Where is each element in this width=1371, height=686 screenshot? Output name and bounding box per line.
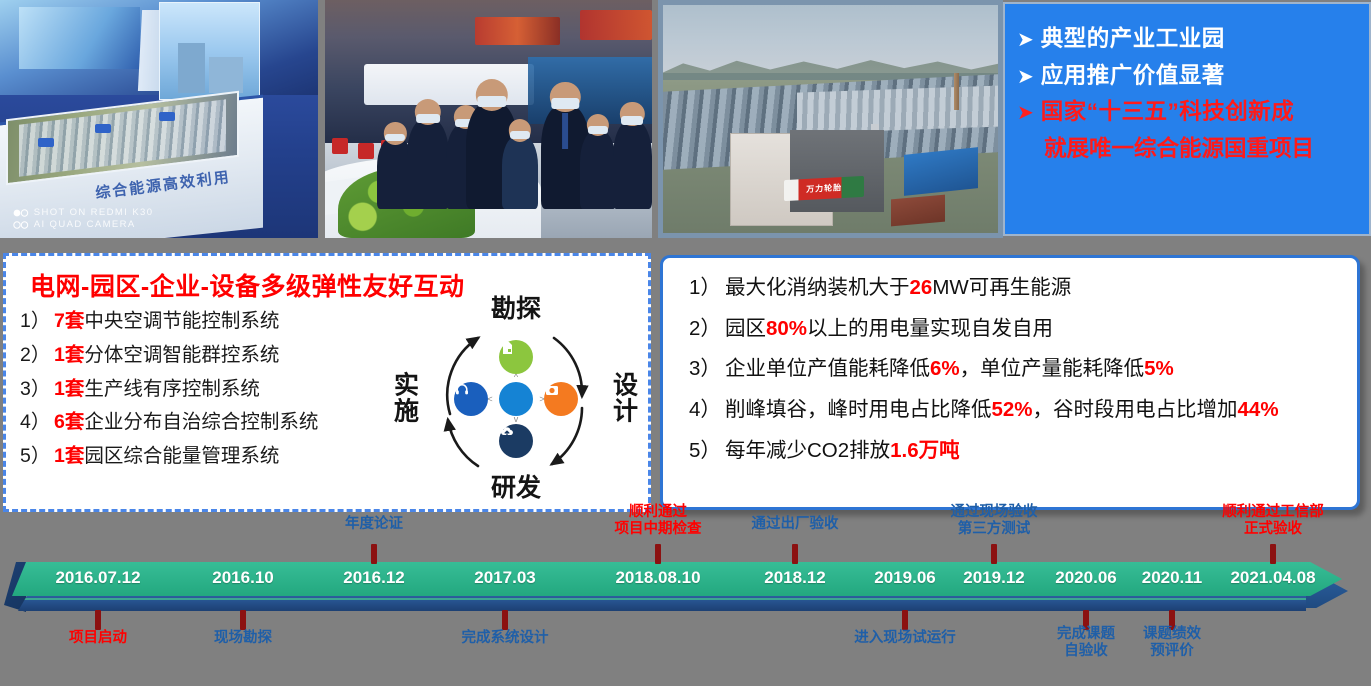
callout-text-2: 应用推广价值显著 bbox=[1041, 63, 1225, 90]
timeline-base-shadow bbox=[18, 594, 1306, 611]
list-item-label: 中央空调节能控制系统 bbox=[84, 310, 279, 332]
list-item-qty: 1套 bbox=[54, 344, 84, 366]
timeline-date: 2019.12 bbox=[963, 568, 1024, 588]
timeline-date: 2018.08.10 bbox=[615, 568, 700, 588]
list-item-number: 4） bbox=[20, 408, 54, 437]
timeline-note: 通过出厂验收 bbox=[752, 516, 839, 533]
systems-list: 1） 7套中央空调节能控制系统 2） 1套分体空调智能群控系统 3） 1套生产线… bbox=[6, 307, 376, 471]
benefit-highlight: 1.6万吨 bbox=[890, 439, 960, 462]
timeline-note: 年度论证 bbox=[345, 516, 403, 533]
benefit-text: 园区 bbox=[725, 317, 766, 340]
list-item: 1） 7套中央空调节能控制系统 bbox=[20, 307, 376, 336]
list-item: 5） 1套园区综合能量管理系统 bbox=[20, 442, 376, 471]
timeline-note: 顺利通过工信部正式验收 bbox=[1222, 504, 1324, 538]
list-item-number: 3） bbox=[20, 375, 54, 404]
chevron-left-icon: < bbox=[487, 394, 492, 404]
watermark-line-2: AI QUAD CAMERA bbox=[34, 219, 136, 231]
timeline-note: 完成系统设计 bbox=[462, 630, 549, 647]
benefits-panel: 1） 最大化消纳装机大于26MW可再生能源 2） 园区80%以上的用电量实现自发… bbox=[660, 255, 1360, 510]
timeline-stem bbox=[371, 544, 377, 564]
timeline-date: 2018.12 bbox=[764, 568, 825, 588]
benefit-text: 最大化消纳装机大于 bbox=[725, 276, 910, 299]
benefit-highlight: 52% bbox=[992, 398, 1033, 421]
arrow-bullet-icon: ➤ bbox=[1017, 30, 1034, 50]
list-item: 4） 6套企业分布自治综合控制系统 bbox=[20, 408, 376, 437]
timeline-note: 现场勘探 bbox=[214, 630, 272, 647]
list-item-number: 1） bbox=[20, 307, 54, 336]
highlights-callout-box: ➤ 典型的产业工业园 ➤ 应用推广价值显著 ➤ 国家“十三五”科技创新成 就展唯… bbox=[1003, 2, 1371, 236]
timeline-date: 2016.12 bbox=[343, 568, 404, 588]
list-item: 4） 削峰填谷，峰时用电占比降低52%，谷时段用电占比增加44% bbox=[689, 396, 1357, 424]
timeline-stem bbox=[991, 544, 997, 564]
list-item-number: 2） bbox=[20, 341, 54, 370]
benefit-highlight: 5% bbox=[1144, 357, 1174, 380]
benefit-text: 以上的用电量实现自发自用 bbox=[807, 317, 1053, 340]
timeline-stem bbox=[240, 610, 246, 630]
benefit-highlight: 80% bbox=[766, 317, 807, 340]
list-item: 2） 园区80%以上的用电量实现自发自用 bbox=[689, 315, 1357, 343]
benefit-text: MW可再生能源 bbox=[932, 276, 1071, 299]
timeline-stem bbox=[792, 544, 798, 564]
leaders-visiting-exhibition-photo bbox=[325, 0, 652, 238]
timeline-note: 顺利通过项目中期检查 bbox=[615, 504, 702, 538]
cycle-label-rnd: 研发 bbox=[491, 476, 541, 502]
callout-text-3-continued: 就展唯一综合能源国重项目 bbox=[1017, 136, 1359, 163]
list-item-qty: 6套 bbox=[54, 411, 84, 433]
list-item: 5） 每年减少CO2排放1.6万吨 bbox=[689, 437, 1357, 465]
timeline-note: 项目启动 bbox=[69, 630, 127, 647]
cycle-label-implement: 实施 bbox=[394, 374, 419, 425]
timeline-stem bbox=[1270, 544, 1276, 564]
redmi-logo-icon bbox=[13, 209, 29, 217]
list-item-number: 5） bbox=[689, 437, 725, 465]
callout-line-1: ➤ 典型的产业工业园 bbox=[1017, 26, 1359, 53]
list-item: 3） 企业单位产值能耗降低6%，单位产量能耗降低5% bbox=[689, 355, 1357, 383]
benefit-text: ，单位产量能耗降低 bbox=[960, 357, 1145, 380]
list-item-qty: 1套 bbox=[54, 378, 84, 400]
timeline-date: 2020.11 bbox=[1142, 568, 1203, 588]
callout-line-2: ➤ 应用推广价值显著 bbox=[1017, 63, 1359, 90]
list-item-number: 3） bbox=[689, 355, 725, 383]
exhibition-hall-scale-model-photo: 综合能源高效利用 SHOT ON REDMI K30 AI QUAD CAMER… bbox=[0, 0, 318, 238]
list-item-number: 2） bbox=[689, 315, 725, 343]
list-item: 3） 1套生产线有序控制系统 bbox=[20, 375, 376, 404]
benefit-highlight: 6% bbox=[930, 357, 960, 380]
industrial-park-aerial-photo: 万力轮胎 bbox=[658, 0, 1003, 238]
headset-icon-node bbox=[454, 382, 488, 416]
watermark-line-1: SHOT ON REDMI K30 bbox=[34, 207, 154, 219]
camera-icon-node bbox=[544, 382, 578, 416]
list-item-number: 1） bbox=[689, 274, 725, 302]
callout-text-3: 国家“十三五”科技创新成 bbox=[1041, 99, 1295, 126]
callout-text-1: 典型的产业工业园 bbox=[1041, 26, 1225, 53]
factory-banner-text: 万力轮胎 bbox=[806, 182, 842, 195]
timeline-stem bbox=[95, 610, 101, 630]
list-item-label: 园区综合能量管理系统 bbox=[84, 445, 279, 467]
timeline-stem bbox=[502, 610, 508, 630]
document-icon-node bbox=[499, 340, 533, 374]
quad-camera-icon bbox=[13, 221, 29, 229]
timeline-date: 2021.04.08 bbox=[1230, 568, 1315, 588]
benefit-text: ，谷时段用电占比增加 bbox=[1033, 398, 1238, 421]
project-timeline: 2016.07.12项目启动2016.10现场勘探2016.12年度论证2017… bbox=[0, 518, 1371, 686]
timeline-note: 课题绩效预评价 bbox=[1143, 626, 1201, 660]
timeline-note: 完成课题自验收 bbox=[1057, 626, 1115, 660]
cycle-label-design: 设计 bbox=[613, 374, 638, 425]
benefit-text: 削峰填谷，峰时用电占比降低 bbox=[725, 398, 992, 421]
arrow-bullet-icon: ➤ bbox=[1017, 103, 1034, 123]
arrow-bullet-icon: ➤ bbox=[1017, 67, 1034, 87]
hub-center-node bbox=[499, 382, 533, 416]
cloud-upload-icon-node bbox=[499, 424, 533, 458]
benefit-highlight: 26 bbox=[910, 276, 933, 299]
benefit-text: 企业单位产值能耗降低 bbox=[725, 357, 930, 380]
list-item: 1） 最大化消纳装机大于26MW可再生能源 bbox=[689, 274, 1357, 302]
list-item-number: 5） bbox=[20, 442, 54, 471]
camera-watermark: SHOT ON REDMI K30 AI QUAD CAMERA bbox=[13, 207, 154, 231]
timeline-note: 进入现场试运行 bbox=[854, 630, 956, 647]
lifecycle-diagram: 勘探 设计 研发 实施 ^ v < > bbox=[392, 296, 640, 502]
timeline-date: 2017.03 bbox=[474, 568, 535, 588]
callout-line-3: ➤ 国家“十三五”科技创新成 bbox=[1017, 99, 1359, 126]
timeline-note: 通过现场验收第三方测试 bbox=[951, 504, 1038, 538]
timeline-date: 2016.10 bbox=[212, 568, 273, 588]
benefit-highlight: 44% bbox=[1238, 398, 1279, 421]
timeline-stem bbox=[655, 544, 661, 564]
list-item: 2） 1套分体空调智能群控系统 bbox=[20, 341, 376, 370]
timeline-date: 2016.07.12 bbox=[55, 568, 140, 588]
cycle-label-explore: 勘探 bbox=[491, 297, 541, 323]
list-item-label: 分体空调智能群控系统 bbox=[84, 344, 279, 366]
list-item-number: 4） bbox=[689, 396, 725, 424]
timeline-date: 2020.06 bbox=[1055, 568, 1116, 588]
slide-canvas: 综合能源高效利用 SHOT ON REDMI K30 AI QUAD CAMER… bbox=[0, 0, 1371, 686]
list-item-qty: 1套 bbox=[54, 445, 84, 467]
list-item-label: 企业分布自治综合控制系统 bbox=[84, 411, 318, 433]
timeline-date: 2019.06 bbox=[874, 568, 935, 588]
timeline-stem bbox=[902, 610, 908, 630]
benefit-text: 每年减少CO2排放 bbox=[725, 439, 890, 462]
list-item-qty: 7套 bbox=[54, 310, 84, 332]
list-item-label: 生产线有序控制系统 bbox=[84, 378, 260, 400]
